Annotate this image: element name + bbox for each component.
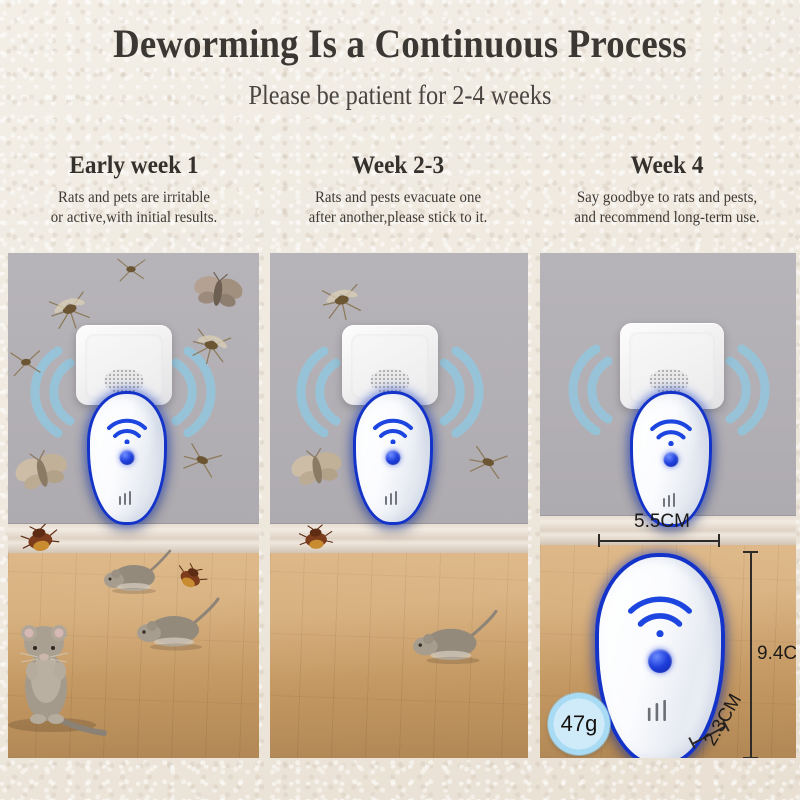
pest-rat-standing — [8, 613, 108, 743]
column-description-line-1: Say goodbye to rats and pests, — [543, 188, 791, 208]
column-description-line-1: Rats and pests evacuate one — [273, 188, 523, 208]
pest-moth — [289, 443, 346, 495]
dimension-label-width: 5.5CM — [602, 511, 722, 533]
column-heading-week-2-3: Week 2-3 Rats and pests evacuate one aft… — [268, 152, 528, 227]
vent-slots-icon — [660, 492, 682, 510]
ultrasonic-repeller-device — [630, 391, 712, 527]
pest-rat — [100, 549, 174, 597]
column-heading-week-4: Week 4 Say goodbye to rats and pests, an… — [538, 152, 796, 227]
scene-panel-early-week-1 — [8, 253, 259, 758]
column-description: Rats and pets are irritable or active,wi… — [13, 188, 255, 227]
power-led-indicator — [386, 450, 401, 465]
pest-rat — [410, 609, 500, 667]
dimension-cap-bottom — [743, 757, 758, 758]
pest-mosquito — [316, 275, 368, 327]
column-description: Say goodbye to rats and pests, and recom… — [543, 188, 791, 227]
vent-slots-icon — [116, 490, 138, 508]
page-title: Deworming Is a Continuous Process — [32, 20, 768, 67]
column-title: Week 2-3 — [277, 152, 519, 180]
dimension-cap-left — [598, 534, 600, 547]
speaker-grille-icon — [649, 369, 689, 393]
vent-slots-icon — [643, 698, 677, 726]
page-subtitle: Please be patient for 2-4 weeks — [40, 80, 760, 111]
column-description: Rats and pests evacuate one after anothe… — [273, 188, 523, 227]
pest-cockroach — [297, 524, 335, 552]
power-led-indicator — [120, 450, 135, 465]
pest-moth — [191, 268, 244, 316]
wifi-wave-icon — [370, 412, 416, 444]
column-title: Early week 1 — [17, 152, 251, 180]
column-title: Week 4 — [547, 152, 787, 180]
pest-rat — [134, 597, 222, 653]
wifi-wave-icon — [647, 412, 695, 446]
pest-mosquito — [8, 343, 46, 383]
dimension-cap-right — [718, 534, 720, 547]
scene-panel-week-2-3 — [270, 253, 528, 758]
column-description-line-2: and recommend long-term use. — [543, 208, 791, 228]
column-heading-early-week-1: Early week 1 Rats and pets are irritable… — [8, 152, 260, 227]
pest-mosquito — [114, 253, 148, 287]
power-led-indicator — [664, 452, 679, 467]
vent-slots-icon — [382, 490, 404, 508]
weight-badge-label: 47g — [561, 711, 598, 737]
dimension-cap-top — [743, 551, 758, 553]
dimension-label-height: 9.4CM — [757, 643, 796, 665]
column-description-line-1: Rats and pets are irritable — [13, 188, 255, 208]
ultrasonic-repeller-device — [87, 391, 167, 525]
column-description-line-2: after another,please stick to it. — [273, 208, 523, 228]
ultrasonic-repeller-device — [353, 391, 433, 525]
power-led-indicator — [648, 649, 672, 673]
speaker-grille-icon — [370, 369, 410, 393]
wifi-wave-icon — [104, 412, 150, 444]
speaker-grille-icon — [104, 369, 144, 393]
column-description-line-2: or active,with initial results. — [13, 208, 255, 228]
wifi-wave-icon — [622, 585, 698, 637]
weight-badge: 47g — [548, 693, 610, 755]
scene-panel-week-4: 5.5CM 9.4CM 2.3CM 47g — [540, 253, 796, 758]
dimension-line-width — [598, 540, 720, 542]
dimension-line-height — [750, 551, 752, 758]
